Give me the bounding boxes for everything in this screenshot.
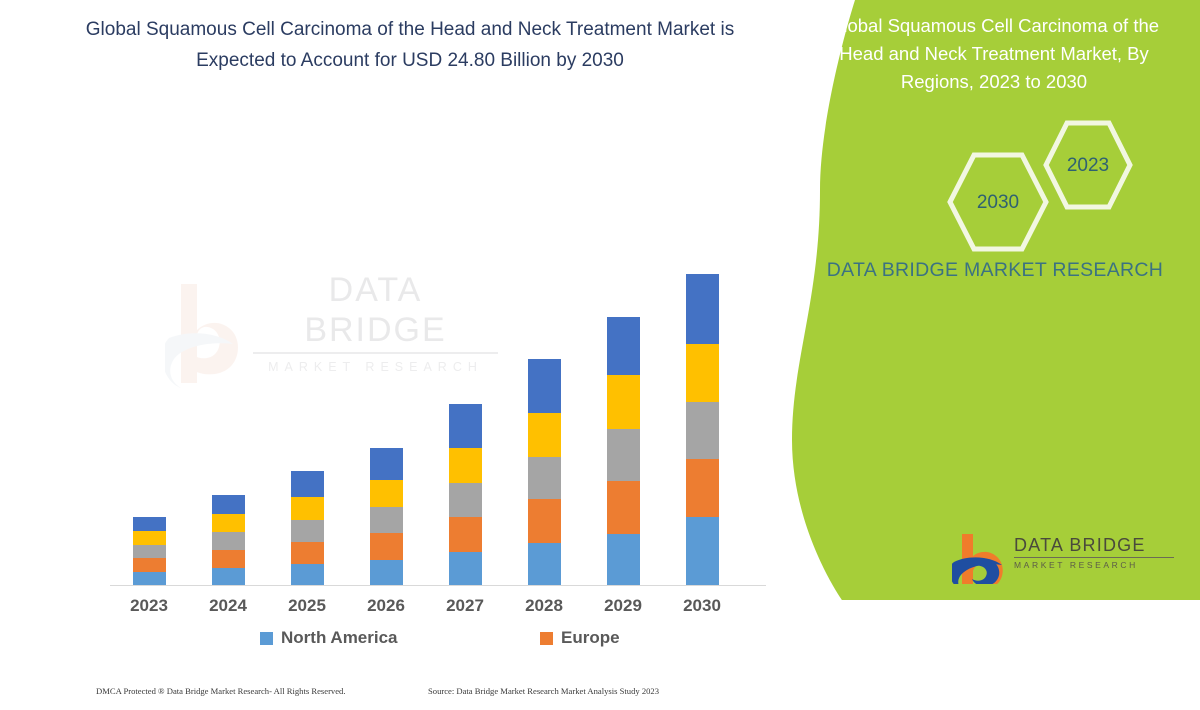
bar-segment-2028-europe[interactable]: [528, 499, 561, 543]
logo-wordmark: DATA BRIDGE MARKET RESEARCH: [1014, 534, 1182, 571]
bar-segment-2024-europe[interactable]: [212, 550, 245, 568]
bar-segment-2028-series-5[interactable]: [528, 359, 561, 413]
chart-area: DATA BRIDGE MARKET RESEARCH 202320242025…: [0, 120, 800, 540]
data-bridge-logo: DATA BRIDGE MARKET RESEARCH: [952, 530, 1182, 588]
bar-segment-2025-europe[interactable]: [291, 542, 324, 564]
x-axis-line: [110, 585, 766, 586]
bar-segment-2030-series-4[interactable]: [686, 344, 719, 402]
bar-segment-2023-europe[interactable]: [133, 558, 166, 572]
logo-name-top: DATA BRIDGE: [1014, 534, 1182, 556]
panel-brand: DATA BRIDGE MARKET RESEARCH: [810, 255, 1180, 285]
logo-rule: [1014, 557, 1174, 558]
green-panel-content: Global Squamous Cell Carcinoma of the He…: [780, 0, 1200, 600]
panel-title: Global Squamous Cell Carcinoma of the He…: [808, 12, 1180, 96]
bar-segment-2023-series-3[interactable]: [133, 545, 166, 558]
bar-segment-2026-series-5[interactable]: [370, 448, 403, 480]
bar-segment-2025-series-5[interactable]: [291, 471, 324, 497]
bar-segment-2024-series-5[interactable]: [212, 495, 245, 514]
bar-segment-2026-series-4[interactable]: [370, 480, 403, 507]
bar-segment-2023-series-4[interactable]: [133, 531, 166, 545]
hexagon-2030: 2030: [938, 150, 1058, 254]
x-tick-2029: 2029: [587, 596, 659, 616]
bar-segment-2030-series-5[interactable]: [686, 274, 719, 344]
bar-segment-2023-north-america[interactable]: [133, 572, 166, 585]
bar-segment-2026-europe[interactable]: [370, 533, 403, 560]
bar-segment-2024-series-3[interactable]: [212, 532, 245, 550]
footer-copyright: DMCA Protected ® Data Bridge Market Rese…: [96, 686, 346, 696]
chart-legend: North AmericaEurope: [110, 628, 766, 656]
bar-segment-2027-series-4[interactable]: [449, 448, 482, 483]
bar-segment-2027-north-america[interactable]: [449, 552, 482, 585]
bar-segment-2030-north-america[interactable]: [686, 517, 719, 585]
bar-segment-2030-europe[interactable]: [686, 459, 719, 517]
bar-segment-2028-series-4[interactable]: [528, 413, 561, 457]
bar-segment-2025-series-4[interactable]: [291, 497, 324, 520]
legend-item-north-america[interactable]: North America: [260, 628, 398, 648]
bar-segment-2027-series-3[interactable]: [449, 483, 482, 517]
legend-item-europe[interactable]: Europe: [540, 628, 620, 648]
legend-swatch-icon: [540, 632, 553, 645]
green-side-panel: Global Squamous Cell Carcinoma of the He…: [780, 0, 1200, 600]
bar-2030[interactable]: [686, 274, 719, 585]
bar-2027[interactable]: [449, 404, 482, 585]
bar-segment-2029-north-america[interactable]: [607, 534, 640, 585]
bar-segment-2027-series-5[interactable]: [449, 404, 482, 448]
bar-segment-2025-series-3[interactable]: [291, 520, 324, 542]
bar-segment-2029-europe[interactable]: [607, 481, 640, 534]
bar-2023[interactable]: [133, 517, 166, 585]
chart-footer: DMCA Protected ® Data Bridge Market Rese…: [0, 686, 800, 710]
logo-name-bottom: MARKET RESEARCH: [1014, 560, 1182, 571]
page-title: Global Squamous Cell Carcinoma of the He…: [70, 14, 750, 76]
plot-area: [110, 120, 750, 586]
footer-source: Source: Data Bridge Market Research Mark…: [428, 686, 659, 696]
bar-segment-2026-north-america[interactable]: [370, 560, 403, 585]
bar-segment-2029-series-5[interactable]: [607, 317, 640, 375]
x-tick-2028: 2028: [508, 596, 580, 616]
bar-2028[interactable]: [528, 359, 561, 585]
legend-label: Europe: [561, 628, 620, 648]
bar-segment-2026-series-3[interactable]: [370, 507, 403, 533]
bar-segment-2028-north-america[interactable]: [528, 543, 561, 585]
x-tick-2025: 2025: [271, 596, 343, 616]
bar-2026[interactable]: [370, 448, 403, 585]
bar-segment-2029-series-3[interactable]: [607, 429, 640, 481]
bar-2025[interactable]: [291, 471, 324, 585]
bar-2024[interactable]: [212, 495, 245, 585]
bar-segment-2029-series-4[interactable]: [607, 375, 640, 429]
x-tick-2026: 2026: [350, 596, 422, 616]
x-tick-2030: 2030: [666, 596, 738, 616]
bar-segment-2030-series-3[interactable]: [686, 402, 719, 459]
bar-segment-2028-series-3[interactable]: [528, 457, 561, 499]
legend-swatch-icon: [260, 632, 273, 645]
data-bridge-mark-icon: [952, 532, 1008, 584]
bar-segment-2023-series-5[interactable]: [133, 517, 166, 531]
x-tick-2024: 2024: [192, 596, 264, 616]
bar-segment-2027-europe[interactable]: [449, 517, 482, 552]
x-tick-2023: 2023: [113, 596, 185, 616]
bar-segment-2024-series-4[interactable]: [212, 514, 245, 532]
bar-2029[interactable]: [607, 317, 640, 585]
bar-segment-2025-north-america[interactable]: [291, 564, 324, 585]
legend-label: North America: [281, 628, 398, 648]
infographic-root: Global Squamous Cell Carcinoma of the He…: [0, 0, 1200, 600]
hexagon-group: 2023 2030: [930, 118, 1160, 228]
bar-segment-2024-north-america[interactable]: [212, 568, 245, 585]
x-tick-2027: 2027: [429, 596, 501, 616]
hexagon-2030-label: 2030: [938, 193, 1058, 212]
